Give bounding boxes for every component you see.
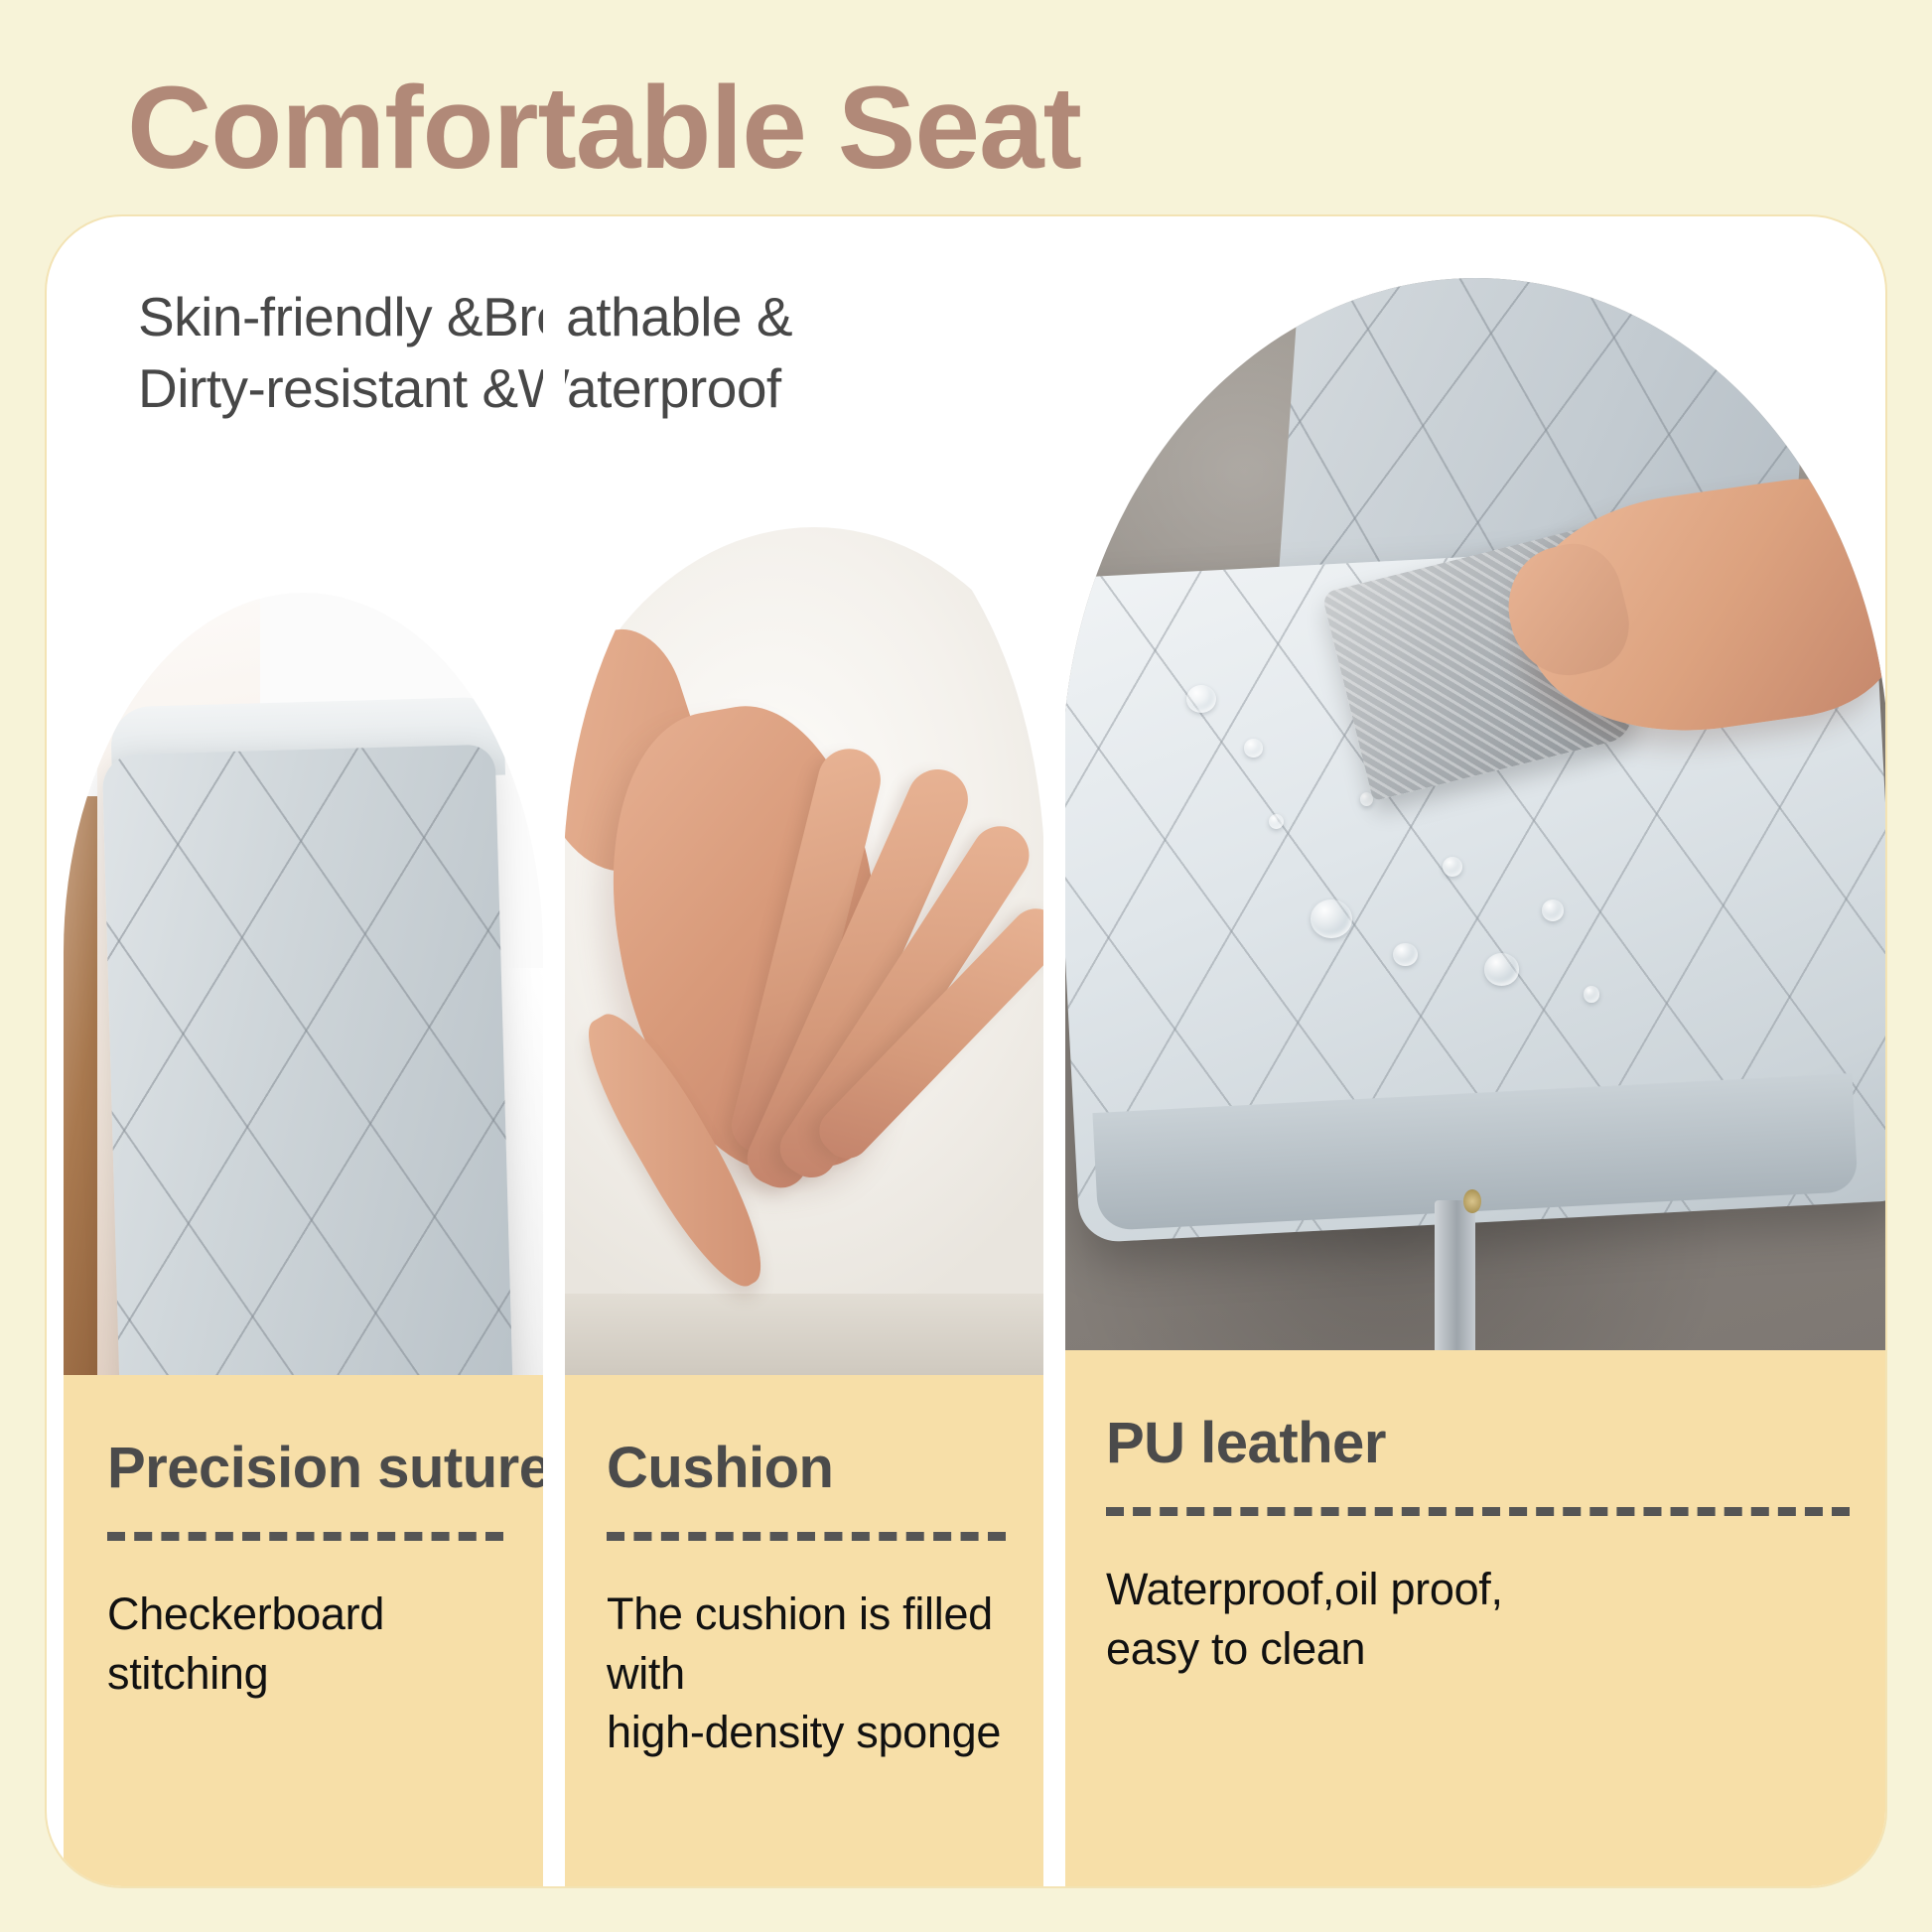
feature-card-precision-suture[interactable]: Precision suture Checkerboard stitching [64,216,543,1888]
dashed-divider [607,1532,1006,1541]
card-description: Waterproof,oil proof, easy to clean [1106,1560,1850,1679]
feature-card-cushion[interactable]: Cushion The cushion is filled with high-… [563,216,1045,1888]
caption-band: Precision suture Checkerboard stitching [64,1375,543,1888]
feature-card-row: Precision suture Checkerboard stitching [47,216,1887,1888]
card-description: Checkerboard stitching [107,1585,503,1704]
caption-band: Cushion The cushion is filled with high-… [563,1375,1045,1888]
column-gutter [1043,216,1065,1888]
quilted-chair-back-photo [64,593,543,1375]
hand-pressing-sponge-photo [563,474,1045,1375]
card-title: Precision suture [107,1437,503,1500]
dashed-divider [1106,1507,1850,1516]
card-title: Cushion [607,1437,1006,1500]
column-gutter [543,216,565,1888]
feature-card-pu-leather[interactable]: PU leather Waterproof,oil proof, easy to… [1062,216,1887,1888]
card-title: PU leather [1106,1412,1850,1475]
wiping-water-drops-photo [1062,278,1887,1350]
caption-band: PU leather Waterproof,oil proof, easy to… [1062,1350,1887,1888]
page-title: Comfortable Seat [127,62,1081,197]
feature-panel: Skin-friendly &Breathable & Dirty-resist… [45,214,1887,1888]
dashed-divider [107,1532,503,1541]
card-description: The cushion is filled with high-density … [607,1585,1006,1763]
